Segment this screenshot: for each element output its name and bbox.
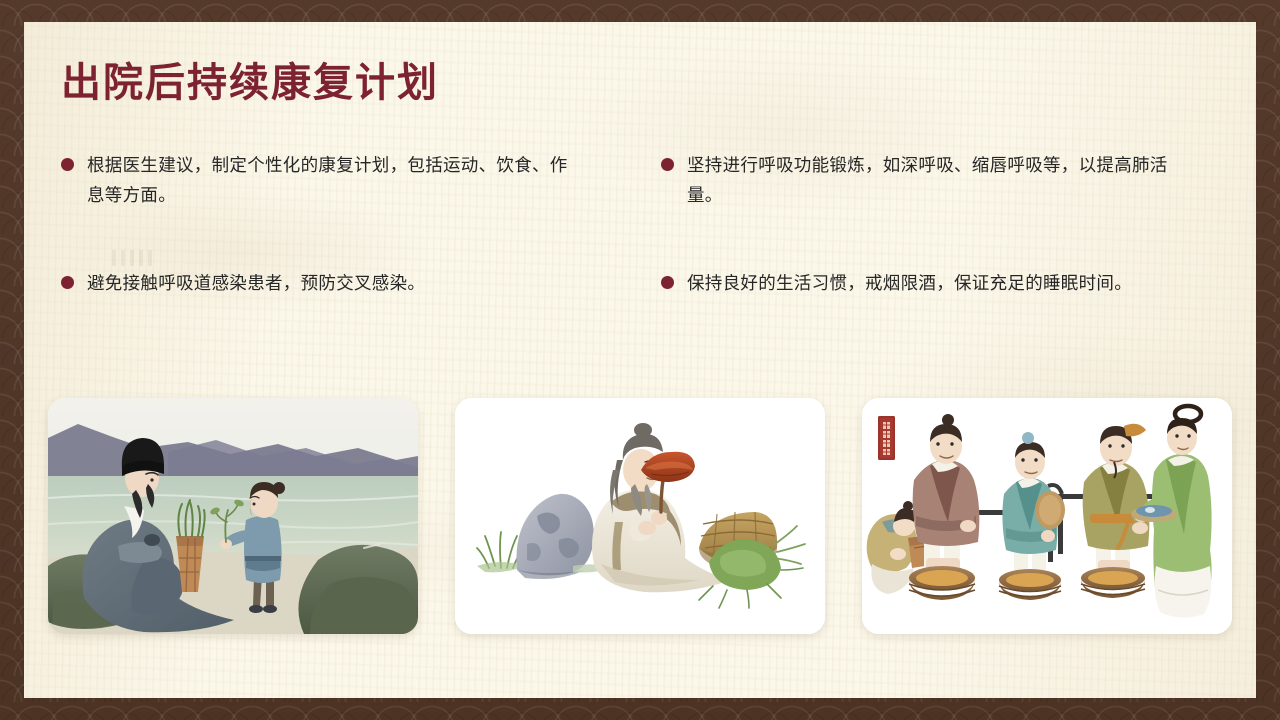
bullet-dot-icon	[61, 276, 74, 289]
list-item: 坚持进行呼吸功能锻炼，如深呼吸、缩唇呼吸等，以提高肺活量。	[661, 150, 1231, 268]
foot-soak-illustration	[862, 398, 1232, 634]
slide-frame: 出院后持续康复计划 根据医生建议，制定个性化的康复计划，包括运动、饮食、作息等方…	[0, 0, 1280, 720]
bullet-dot-icon	[661, 276, 674, 289]
bullet-dot-icon	[661, 158, 674, 171]
herb-gathering-illustration	[48, 398, 418, 634]
list-item: 避免接触呼吸道感染患者，预防交叉感染。	[61, 268, 661, 386]
slide-paper-panel: 出院后持续康复计划 根据医生建议，制定个性化的康复计划，包括运动、饮食、作息等方…	[24, 22, 1256, 698]
illustration-card-foot-soak[interactable]	[862, 398, 1232, 634]
illustration-card-herb-gathering[interactable]	[48, 398, 418, 634]
illustration-card-row	[48, 398, 1232, 634]
bullet-text: 保持良好的生活习惯，戒烟限酒，保证充足的睡眠时间。	[687, 268, 1132, 298]
illustration-card-lingzhi-elder[interactable]	[455, 398, 825, 634]
page-title: 出院后持续康复计划	[61, 50, 439, 108]
seal-stamp-icon	[878, 416, 895, 460]
bullet-text: 避免接触呼吸道感染患者，预防交叉感染。	[87, 268, 425, 298]
lingzhi-elder-illustration	[455, 398, 825, 634]
list-item: 根据医生建议，制定个性化的康复计划，包括运动、饮食、作息等方面。	[61, 150, 661, 268]
bullet-text: 坚持进行呼吸功能锻炼，如深呼吸、缩唇呼吸等，以提高肺活量。	[687, 150, 1187, 210]
bullet-list: 根据医生建议，制定个性化的康复计划，包括运动、饮食、作息等方面。 坚持进行呼吸功…	[61, 150, 1231, 386]
bullet-text: 根据医生建议，制定个性化的康复计划，包括运动、饮食、作息等方面。	[87, 150, 579, 210]
list-item: 保持良好的生活习惯，戒烟限酒，保证充足的睡眠时间。	[661, 268, 1231, 386]
bullet-dot-icon	[61, 158, 74, 171]
